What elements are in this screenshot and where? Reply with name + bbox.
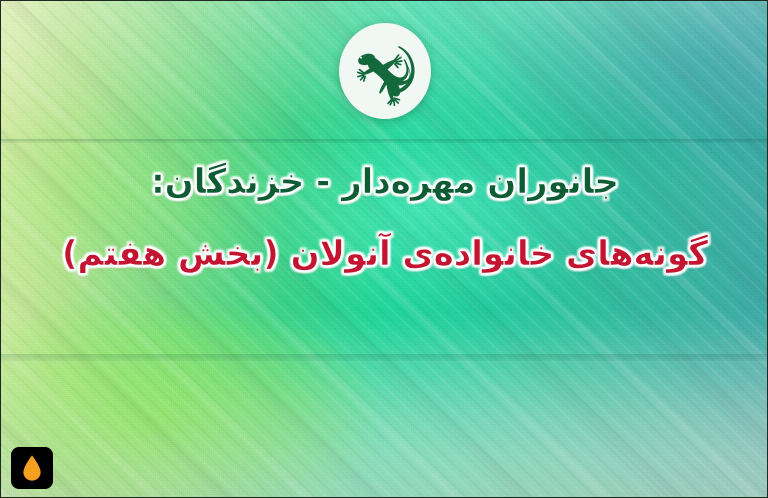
slide-title-secondary: گونه‌های خانواده‌ی آنولان (بخش هفتم) bbox=[1, 233, 768, 275]
droplet-watermark-badge bbox=[11, 447, 53, 489]
gecko-logo-badge bbox=[339, 23, 431, 119]
presentation-slide: جانوران مهره‌دار - خزندگان: گونه‌های خان… bbox=[0, 0, 768, 498]
droplet-icon bbox=[21, 454, 43, 482]
band-divider-top bbox=[1, 139, 767, 143]
title-block: جانوران مهره‌دار - خزندگان: گونه‌های خان… bbox=[1, 161, 768, 275]
band-divider-bottom bbox=[1, 354, 767, 363]
slide-title-primary: جانوران مهره‌دار - خزندگان: bbox=[1, 161, 768, 203]
gecko-icon bbox=[348, 33, 422, 109]
